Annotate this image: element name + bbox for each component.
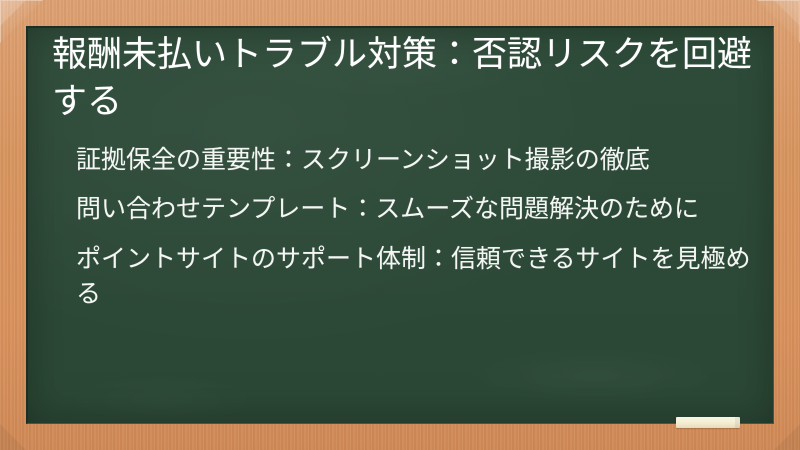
- frame-bevel-top-right: [774, 0, 800, 26]
- chalkboard-surface: 報酬未払いトラブル対策：否認リスクを回避する 証拠保全の重要性：スクリーンショッ…: [26, 26, 774, 424]
- slide-bullet-list: 証拠保全の重要性：スクリーンショット撮影の徹底 問い合わせテンプレート：スムーズ…: [48, 142, 756, 312]
- bullet-item-1: 証拠保全の重要性：スクリーンショット撮影の徹底: [76, 142, 756, 178]
- slide-title: 報酬未払いトラブル対策：否認リスクを回避する: [48, 32, 752, 126]
- bullet-item-3: ポイントサイトのサポート体制：信頼できるサイトを見極める: [76, 241, 756, 312]
- frame-bevel-bottom-left: [0, 424, 26, 450]
- slide-content: 報酬未払いトラブル対策：否認リスクを回避する 証拠保全の重要性：スクリーンショッ…: [28, 28, 774, 312]
- frame-bevel-bottom-right: [774, 424, 800, 450]
- bullet-item-2: 問い合わせテンプレート：スムーズな問題解決のために: [76, 191, 756, 227]
- chalkboard-slide: 報酬未払いトラブル対策：否認リスクを回避する 証拠保全の重要性：スクリーンショッ…: [0, 0, 800, 450]
- chalk-stick-icon: [676, 417, 740, 428]
- frame-bevel-top-left: [0, 0, 26, 26]
